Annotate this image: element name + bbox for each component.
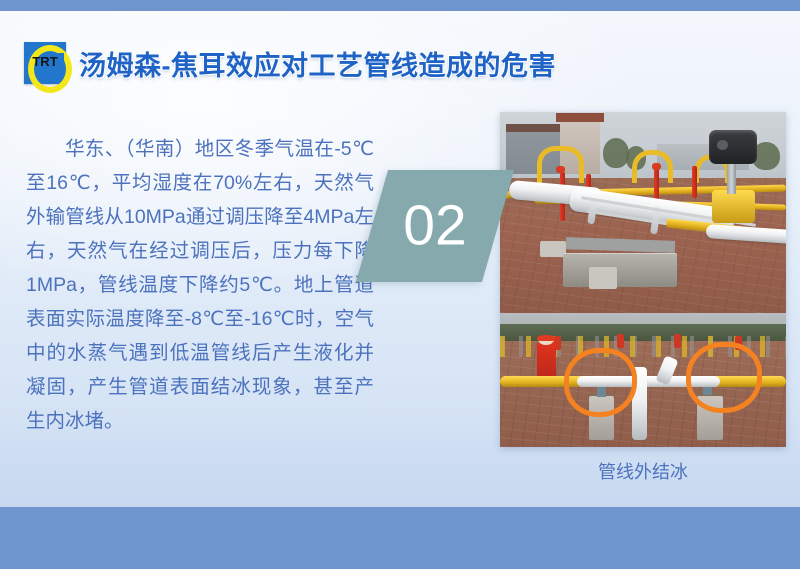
concrete-block [589, 267, 618, 289]
red-post [654, 168, 659, 202]
top-frame-bar [0, 0, 800, 11]
red-valve-cap [652, 163, 661, 170]
figure-photo-stack [500, 112, 786, 447]
concrete-block [540, 241, 566, 257]
red-valve-cap [556, 166, 565, 173]
worker-helmet-icon [537, 335, 554, 341]
photo-pipeline-station [500, 112, 786, 313]
section-number-label: 02 [372, 198, 498, 255]
red-valve [674, 334, 681, 348]
photo-icing-annotated [500, 313, 786, 447]
figure-caption: 管线外结冰 [500, 458, 786, 484]
body-paragraph: 华东、（华南）地区冬季气温在-5℃至16℃，平均湿度在70%左右，天然气外输管线… [26, 132, 374, 438]
slide-header: TRT 汤姆森-焦耳效应对工艺管线造成的危害 [24, 42, 556, 84]
bottom-frame-bar [0, 507, 800, 569]
photo-icing-annotated-art [500, 313, 786, 447]
tree-shape [603, 138, 629, 168]
valve-actuator-icon [709, 130, 758, 164]
slide-canvas: TRT 汤姆森-焦耳效应对工艺管线造成的危害 华东、（华南）地区冬季气温在-5℃… [0, 0, 800, 569]
equipment-skid [563, 253, 677, 287]
red-valve [617, 334, 624, 348]
logo-label: TRT [24, 54, 66, 69]
section-number-badge: 02 [356, 170, 514, 282]
annotation-circle [686, 342, 762, 412]
valve-body [712, 190, 755, 222]
valve-stem [727, 162, 736, 194]
photo-pipeline-station-art [500, 112, 786, 313]
red-post [692, 166, 697, 198]
page-title: 汤姆森-焦耳效应对工艺管线造成的危害 [79, 44, 556, 83]
trt-logo-icon: TRT [24, 42, 66, 84]
annotation-circle [564, 348, 637, 417]
